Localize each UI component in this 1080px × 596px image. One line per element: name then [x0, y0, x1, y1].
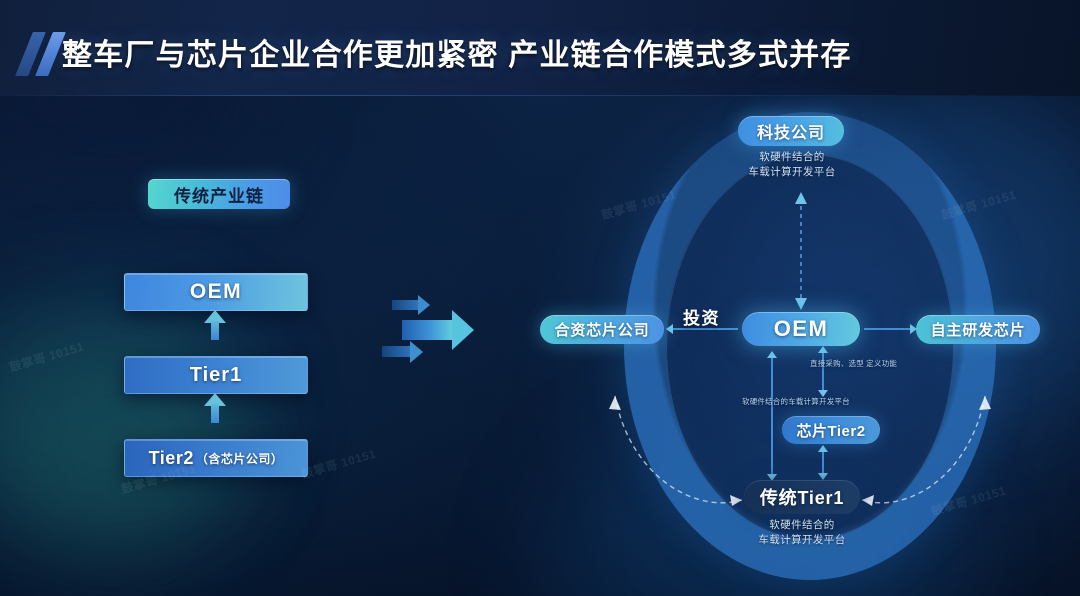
label-platform: 软硬件结合的车载计算开发平台	[742, 396, 850, 407]
node-oem-center[interactable]: OEM	[742, 312, 860, 346]
transition-arrow-small-top-icon	[392, 300, 420, 310]
node-traditional-tier1[interactable]: 传统Tier1	[744, 480, 860, 514]
trad-sub-line2: 车载计算开发平台	[732, 533, 872, 548]
oem-tradtier1-arrow-up-icon	[767, 351, 777, 358]
oem-chiptier2-arrow-up-icon	[818, 346, 828, 353]
oem-jv-arrowhead-icon	[666, 324, 673, 334]
layer-tier1-label: Tier1	[124, 356, 308, 394]
layer-tier2-label: Tier2	[149, 448, 194, 469]
chiptier2-tradtier1-arrow-up-icon	[818, 445, 828, 452]
traditional-chain-panel: 传统产业链 OEM Tier1 Tier2（含芯片公司）	[0, 96, 420, 596]
layer-tier2-front: Tier2（含芯片公司）	[124, 439, 308, 477]
page-title: 整车厂与芯片企业合作更加紧密 产业链合作模式多式并存	[62, 30, 852, 74]
arrow-tier1-to-oem-icon	[204, 310, 226, 340]
arrow-tier2-to-tier1-icon	[204, 393, 226, 423]
layer-oem-label: OEM	[124, 273, 308, 311]
label-procurement: 直接采购、选型 定义功能	[810, 358, 897, 369]
transition-arrow-large-icon	[402, 320, 454, 340]
node-joint-venture-chip-company[interactable]: 合资芯片公司	[540, 315, 664, 344]
slide-canvas: 整车厂与芯片企业合作更加紧密 产业链合作模式多式并存 传统产业链 OEM Tie…	[0, 0, 1080, 596]
label-invest: 投资	[683, 304, 720, 329]
header-band: 整车厂与芯片企业合作更加紧密 产业链合作模式多式并存	[0, 0, 1080, 96]
ecosystem-circle-panel: 科技公司 软硬件结合的 车载计算开发平台 投资 合资芯片公司 OEM 自主研发芯…	[520, 96, 1080, 596]
node-chip-tier2[interactable]: 芯片Tier2	[782, 416, 880, 444]
oem-tradtier1-line	[771, 358, 773, 474]
chiptier2-tradtier1-line	[822, 451, 824, 473]
transition-arrow-small-bottom-icon	[382, 346, 412, 357]
oem-self-line	[864, 328, 912, 330]
node-traditional-tier1-subtitle: 软硬件结合的 车载计算开发平台	[732, 518, 872, 548]
traditional-chain-badge: 传统产业链	[148, 179, 290, 209]
tech-sub-line1: 软硬件结合的	[732, 150, 852, 165]
transition-arrows	[392, 300, 502, 370]
trad-sub-line1: 软硬件结合的	[732, 518, 872, 533]
node-tech-company-subtitle: 软硬件结合的 车载计算开发平台	[732, 150, 852, 180]
layer-tier2-sublabel: （含芯片公司）	[196, 450, 284, 467]
node-tech-company[interactable]: 科技公司	[738, 116, 844, 146]
chiptier2-tradtier1-arrow-down-icon	[818, 473, 828, 480]
node-self-developed-chip[interactable]: 自主研发芯片	[916, 315, 1040, 344]
tech-sub-line2: 车载计算开发平台	[732, 165, 852, 180]
